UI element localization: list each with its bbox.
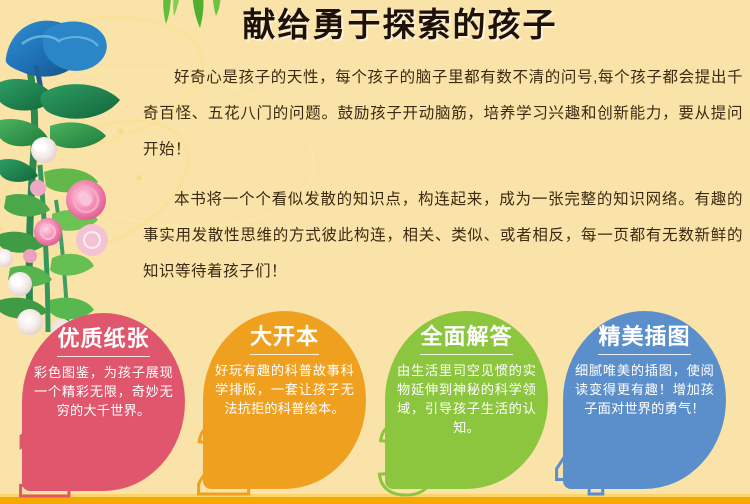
feature-badge[interactable]: 1 优质纸张 彩色图鉴，为孩子展现一个精彩无限，奇妙无穷的大千世界。	[22, 313, 185, 491]
page-title: 献给勇于探索的孩子	[185, 4, 615, 45]
badge-content: 大开本 好玩有趣的科普故事科学排版，一套让孩子无法抗拒的科普绘本。	[203, 311, 366, 489]
bottom-strip	[0, 497, 750, 504]
badge-description: 彩色图鉴，为孩子展现一个精彩无限，奇妙无穷的大千世界。	[34, 363, 173, 420]
feature-badge[interactable]: 4 精美插图 细腻唯美的插图，使阅读变得更有趣！增加孩子面对世界的勇气！	[563, 311, 726, 489]
badge-description: 好玩有趣的科普故事科学排版，一套让孩子无法抗拒的科普绘本。	[215, 361, 354, 418]
feature-badge-list: 1 优质纸张 彩色图鉴，为孩子展现一个精彩无限，奇妙无穷的大千世界。 2 大开本…	[0, 305, 750, 504]
paragraph: 本书将一个个看似发散的知识点，构连起来，成为一张完整的知识网络。有趣的事实用发散…	[143, 182, 743, 290]
badge-description: 细腻唯美的插图，使阅读变得更有趣！增加孩子面对世界的勇气！	[575, 361, 714, 418]
badge-content: 优质纸张 彩色图鉴，为孩子展现一个精彩无限，奇妙无穷的大千世界。	[22, 313, 185, 491]
promo-page: 献给勇于探索的孩子 好奇心是孩子的天性，每个孩子的脑子里都有数不清的问号,每个孩…	[0, 0, 750, 504]
badge-content: 精美插图 细腻唯美的插图，使阅读变得更有趣！增加孩子面对世界的勇气！	[563, 311, 726, 489]
badge-title: 精美插图	[598, 325, 690, 355]
badge-content: 全面解答 由生活里司空见惯的实物延伸到神秘的科学领域，引导孩子生活的认知。	[385, 311, 548, 489]
feature-badge[interactable]: 3 全面解答 由生活里司空见惯的实物延伸到神秘的科学领域，引导孩子生活的认知。	[385, 311, 548, 489]
flower-illustration	[0, 0, 140, 340]
feature-badge[interactable]: 2 大开本 好玩有趣的科普故事科学排版，一套让孩子无法抗拒的科普绘本。	[203, 311, 366, 489]
badge-title: 大开本	[250, 325, 319, 355]
badge-title: 全面解答	[420, 325, 512, 355]
badge-description: 由生活里司空见惯的实物延伸到神秘的科学领域，引导孩子生活的认知。	[397, 361, 536, 437]
body-copy: 好奇心是孩子的天性，每个孩子的脑子里都有数不清的问号,每个孩子都会提出千奇百怪、…	[143, 60, 743, 304]
badge-title: 优质纸张	[57, 327, 149, 357]
paragraph: 好奇心是孩子的天性，每个孩子的脑子里都有数不清的问号,每个孩子都会提出千奇百怪、…	[143, 60, 743, 168]
